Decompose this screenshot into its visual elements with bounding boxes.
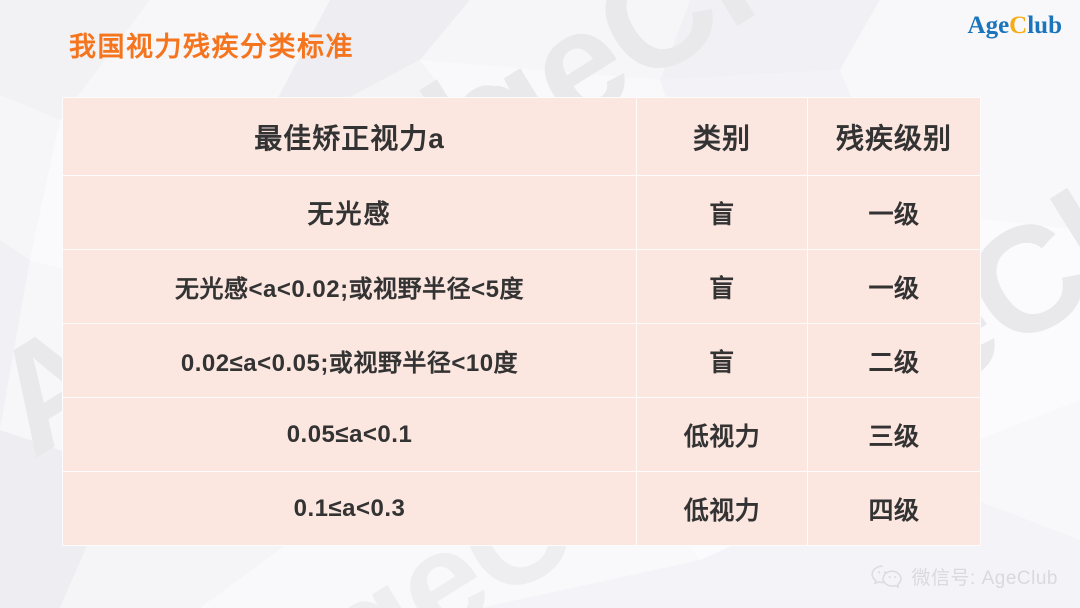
- table-row: 无光感<a<0.02;或视野半径<5度 盲 一级: [63, 250, 981, 324]
- cell-criteria: 0.02≤a<0.05;或视野半径<10度: [63, 324, 637, 398]
- table-row: 0.02≤a<0.05;或视野半径<10度 盲 二级: [63, 324, 981, 398]
- cell-criteria: 0.05≤a<0.1: [63, 398, 637, 472]
- cell-grade: 一级: [808, 250, 981, 324]
- cell-grade: 一级: [808, 176, 981, 250]
- cell-grade: 三级: [808, 398, 981, 472]
- slide-canvas: AgeClub AgeClub AgeClub AgeClub AgeClub …: [0, 0, 1080, 608]
- table-row: 无光感 盲 一级: [63, 176, 981, 250]
- cell-category: 盲: [637, 250, 808, 324]
- cell-criteria: 0.1≤a<0.3: [63, 472, 637, 546]
- table-header-row: 最佳矫正视力a 类别 残疾级别: [63, 98, 981, 176]
- brand-logo-lub: lub: [1027, 12, 1062, 39]
- brand-logo: AgeClub: [968, 13, 1062, 38]
- footer-wechat: 微信号: AgeClub: [870, 563, 1058, 590]
- brand-logo-c: C: [1009, 12, 1027, 39]
- cell-category: 盲: [637, 324, 808, 398]
- page-title: 我国视力残疾分类标准: [69, 25, 354, 64]
- vision-disability-table: 最佳矫正视力a 类别 残疾级别 无光感 盲 一级 无光感<a<0.02;或视野半…: [62, 97, 981, 546]
- wechat-label: 微信号: AgeClub: [912, 563, 1058, 590]
- cell-category: 低视力: [637, 398, 808, 472]
- column-header-grade: 残疾级别: [808, 98, 981, 176]
- cell-category: 低视力: [637, 472, 808, 546]
- table-row: 0.1≤a<0.3 低视力 四级: [63, 472, 981, 546]
- cell-grade: 四级: [808, 472, 981, 546]
- column-header-category: 类别: [637, 98, 808, 176]
- table-header: 最佳矫正视力a 类别 残疾级别: [63, 98, 981, 176]
- column-header-criteria: 最佳矫正视力a: [63, 98, 637, 176]
- wechat-icon: [870, 564, 904, 590]
- cell-criteria: 无光感: [63, 176, 637, 250]
- table-row: 0.05≤a<0.1 低视力 三级: [63, 398, 981, 472]
- cell-criteria: 无光感<a<0.02;或视野半径<5度: [63, 250, 637, 324]
- table-body: 无光感 盲 一级 无光感<a<0.02;或视野半径<5度 盲 一级 0.02≤a…: [63, 176, 981, 546]
- brand-logo-age: Age: [968, 12, 1010, 39]
- cell-category: 盲: [637, 176, 808, 250]
- cell-grade: 二级: [808, 324, 981, 398]
